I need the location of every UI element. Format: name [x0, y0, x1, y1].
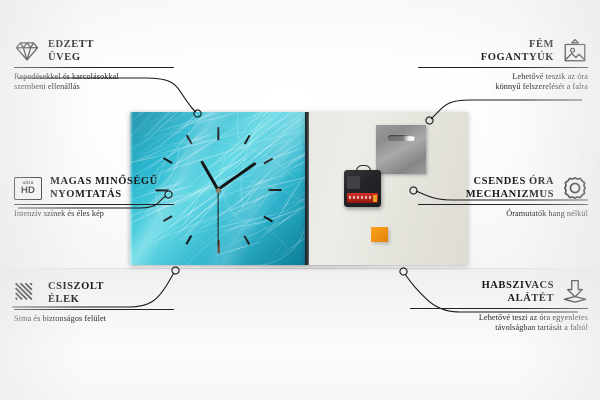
callout-description: Óramutatók hang nélkül: [418, 209, 588, 220]
clock-tick: [217, 127, 219, 140]
callout-tempered-glass: EDZETT ÜVEG Repedésekkel és karcolásokka…: [14, 38, 174, 93]
back-panel-edge: [305, 112, 309, 265]
foam-pad-arrow-icon: [562, 279, 588, 305]
metal-hanger: [376, 125, 426, 174]
callout-description: Repedésekkel és karcolásokkal szembeni e…: [14, 72, 174, 93]
callout-header: FÉM FOGANTYÚK: [418, 38, 588, 64]
callout-description: Lehetővé teszik az óra könnyű felszerelé…: [418, 72, 588, 93]
bevelled-edge-icon: [14, 280, 40, 306]
callout-divider: [418, 204, 588, 205]
mechanism-loop: [356, 165, 371, 174]
callout-divider: [14, 309, 174, 310]
callout-divider: [14, 204, 174, 205]
ultra-hd-big-label: HD: [21, 186, 35, 196]
battery-tip: [373, 195, 377, 202]
clock-tick: [268, 189, 281, 191]
battery-label: [349, 196, 371, 199]
foam-pad: [371, 227, 388, 242]
ultra-hd-icon: ultra HD: [14, 177, 42, 200]
diamond-icon: [14, 38, 40, 64]
callout-divider: [410, 308, 588, 309]
callout-metal-handles: FÉM FOGANTYÚK Lehetővé teszik az óra kön…: [418, 38, 588, 93]
callout-high-quality-print: ultra HD MAGAS MINŐSÉGŰ NYOMTATÁS Intenz…: [14, 175, 174, 219]
clock-second-hand: [217, 190, 218, 247]
picture-hanger-icon: [562, 38, 588, 64]
callout-header: EDZETT ÜVEG: [14, 38, 174, 64]
callout-title: CSENDES ÓRA MECHANIZMUS: [466, 175, 554, 201]
callout-title: FÉM FOGANTYÚK: [481, 38, 554, 64]
mechanism-notch: [347, 176, 360, 189]
callout-title: HABSZIVACS ALÁTÉT: [482, 279, 554, 305]
clock-hand-cap: [216, 188, 221, 193]
callout-title: CSISZOLT ÉLEK: [48, 280, 104, 306]
gear-icon: [562, 175, 588, 201]
callout-divider: [14, 67, 174, 68]
callout-description: Lehetővé teszi az óra egyenletes távolsá…: [410, 313, 588, 334]
battery: [347, 193, 378, 203]
callout-description: Intenzív színek és éles kép: [14, 209, 174, 220]
callout-title: MAGAS MINŐSÉGŰ NYOMTATÁS: [50, 175, 158, 201]
callout-header: CSENDES ÓRA MECHANIZMUS: [418, 175, 588, 201]
callout-header: HABSZIVACS ALÁTÉT: [410, 279, 588, 305]
callout-description: Sima és biztonságos felület: [14, 314, 174, 325]
callout-header: CSISZOLT ÉLEK: [14, 280, 174, 306]
callout-header: ultra HD MAGAS MINŐSÉGŰ NYOMTATÁS: [14, 175, 174, 201]
callout-title: EDZETT ÜVEG: [48, 38, 94, 64]
clock-mechanism: [344, 170, 381, 207]
hanger-slot: [388, 135, 415, 141]
infographic-canvas: EDZETT ÜVEG Repedésekkel és karcolásokka…: [0, 0, 600, 400]
callout-polished-edges: CSISZOLT ÉLEK Sima és biztonságos felüle…: [14, 280, 174, 324]
callout-divider: [418, 67, 588, 68]
callout-foam-pad: HABSZIVACS ALÁTÉT Lehetővé teszi az óra …: [410, 279, 588, 334]
callout-silent-mechanism: CSENDES ÓRA MECHANIZMUS Óramutatók hang …: [418, 175, 588, 219]
